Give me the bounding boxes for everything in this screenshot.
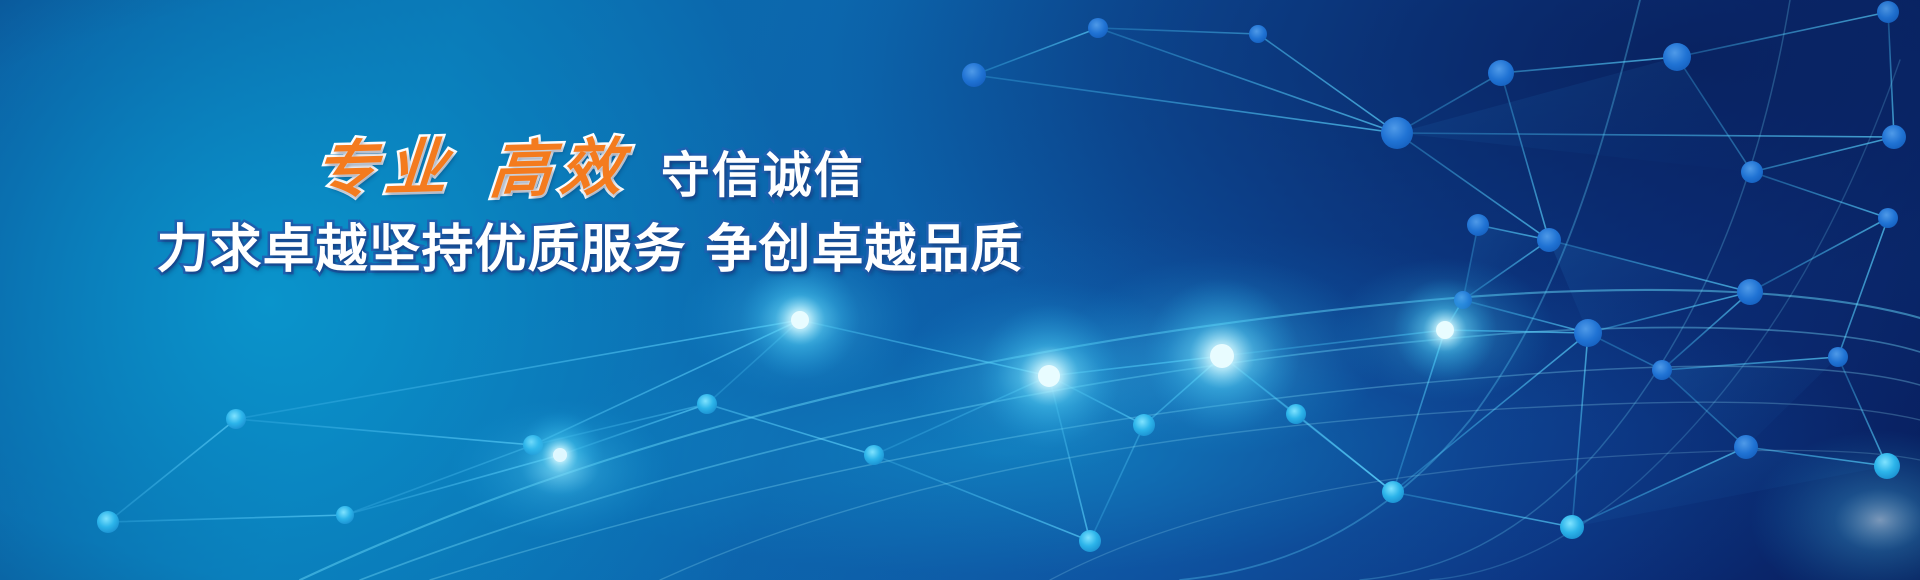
promo-banner: 专业 高效 守信诚信 力求卓越坚持优质服务 争创卓越品质 <box>0 0 1920 580</box>
background-vignette <box>0 0 1920 580</box>
